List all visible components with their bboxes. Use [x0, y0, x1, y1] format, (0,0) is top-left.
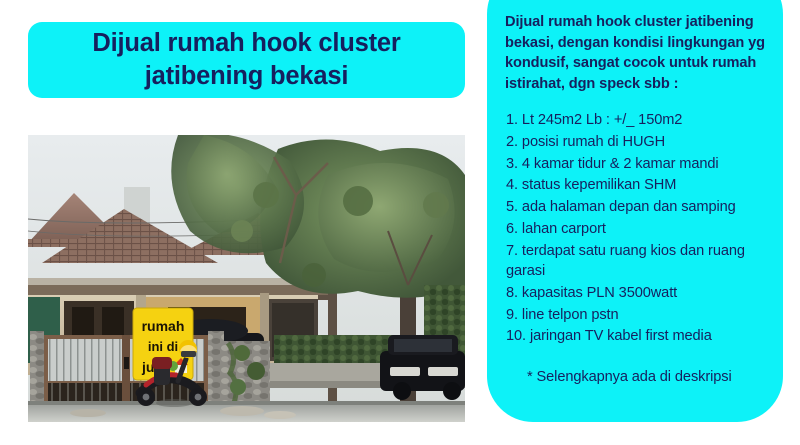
svg-text:rumah: rumah — [142, 318, 185, 334]
spec-item: 7. terdapat satu ruang kios dan ruang ga… — [505, 241, 769, 282]
info-panel: Dijual rumah hook cluster jatibening bek… — [487, 0, 783, 422]
property-photo: rumah ini di jual — [28, 135, 465, 422]
intro-paragraph: Dijual rumah hook cluster jatibening bek… — [505, 12, 769, 94]
spec-item: 6. lahan carport — [505, 219, 769, 240]
title-banner: Dijual rumah hook clusterjatibening beka… — [28, 22, 465, 98]
footnote: * Selengkapnya ada di deskripsi — [505, 369, 769, 385]
parked-car — [380, 335, 465, 400]
page-title: Dijual rumah hook clusterjatibening beka… — [92, 27, 400, 93]
photo-illustration: rumah ini di jual — [28, 135, 465, 422]
spec-item: 8. kapasitas PLN 3500watt — [505, 283, 769, 304]
spec-item: 1. Lt 245m2 Lb : +/_ 150m2 — [505, 110, 769, 131]
spec-item: 2. posisi rumah di HUGH — [505, 132, 769, 153]
spec-item: 3. 4 kamar tidur & 2 kamar mandi — [505, 154, 769, 175]
spec-list: 1. Lt 245m2 Lb : +/_ 150m2 2. posisi rum… — [505, 110, 769, 347]
spec-item: 10. jaringan TV kabel first media — [505, 326, 769, 347]
spec-item: 5. ada halaman depan dan samping — [505, 197, 769, 218]
spec-item: 9. line telpon pstn — [505, 305, 769, 326]
svg-text:ini di: ini di — [148, 339, 178, 354]
spec-item: 4. status kepemilikan SHM — [505, 175, 769, 196]
